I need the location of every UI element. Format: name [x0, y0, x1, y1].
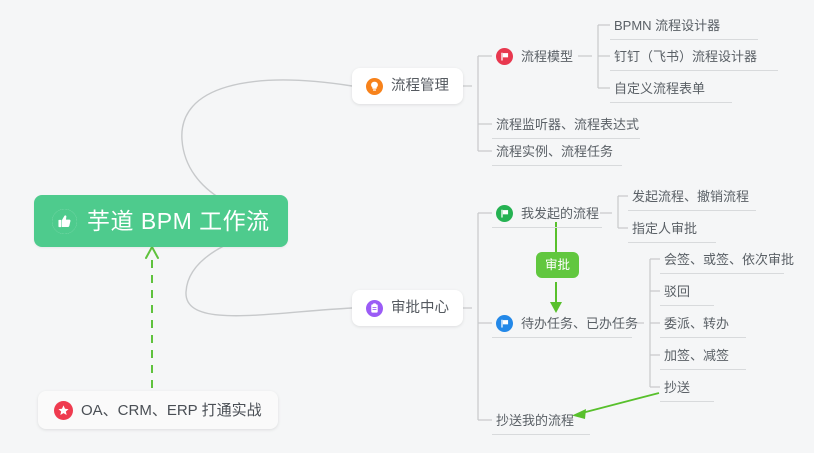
node-label: 流程监听器、流程表达式 [496, 118, 639, 131]
node-my-initiated[interactable]: 我发起的流程 [492, 199, 605, 227]
underline-add-remove-sign [660, 369, 746, 370]
node-label: 抄送我的流程 [496, 414, 574, 427]
node-start-cancel-process[interactable]: 发起流程、撤销流程 [628, 182, 755, 210]
node-label: 钉钉（飞书）流程设计器 [614, 50, 757, 63]
node-label: 加签、减签 [664, 349, 729, 362]
underline-custom-form [610, 102, 732, 103]
underline-start-cancel [628, 210, 756, 211]
underline-bpmn [610, 39, 758, 40]
underline-delegate [660, 337, 746, 338]
node-process-model[interactable]: 流程模型 [492, 42, 579, 70]
arrow-cc-line [578, 393, 659, 414]
node-reject[interactable]: 驳回 [660, 277, 696, 305]
node-label: 会签、或签、依次审批 [664, 253, 794, 266]
clipboard-icon [366, 300, 383, 317]
note-card[interactable]: OA、CRM、ERP 打通实战 [38, 391, 278, 429]
underline-cc-to-me [492, 434, 590, 435]
underline-my-initiated [492, 227, 602, 228]
underline-todo-done [492, 337, 632, 338]
node-listener-expression[interactable]: 流程监听器、流程表达式 [492, 110, 645, 138]
node-cc-to-me[interactable]: 抄送我的流程 [492, 406, 580, 434]
branch-approval-center[interactable]: 审批中心 [352, 290, 463, 326]
approval-tag-label: 审批 [545, 259, 570, 272]
node-instance-task[interactable]: 流程实例、流程任务 [492, 137, 619, 165]
node-add-remove-sign[interactable]: 加签、减签 [660, 341, 735, 369]
node-delegate-transfer[interactable]: 委派、转办 [660, 309, 735, 337]
underline-countersign [660, 273, 784, 274]
root-node[interactable]: 芋道 BPM 工作流 [34, 195, 288, 247]
node-label: 发起流程、撤销流程 [632, 190, 749, 203]
underline-instance [492, 165, 622, 166]
branch-label: 审批中心 [391, 301, 449, 316]
branch-label: 流程管理 [391, 79, 449, 94]
dashed-link-arrow-head [146, 247, 158, 258]
node-todo-done-tasks[interactable]: 待办任务、已办任务 [492, 309, 644, 337]
node-countersign[interactable]: 会签、或签、依次审批 [660, 245, 800, 273]
node-label: 自定义流程表单 [614, 82, 705, 95]
branch-process-management[interactable]: 流程管理 [352, 68, 463, 104]
flag-icon [496, 205, 513, 222]
node-cc[interactable]: 抄送 [660, 373, 696, 401]
node-assign-approver[interactable]: 指定人审批 [628, 214, 703, 242]
underline-dingtalk [610, 70, 778, 71]
node-label: 待办任务、已办任务 [521, 317, 638, 330]
node-bpmn-designer[interactable]: BPMN 流程设计器 [610, 11, 726, 39]
flag-icon [496, 315, 513, 332]
underline-cc [660, 401, 714, 402]
note-label: OA、CRM、ERP 打通实战 [81, 403, 262, 418]
node-label: 我发起的流程 [521, 207, 599, 220]
node-label: BPMN 流程设计器 [614, 19, 720, 32]
mindmap-canvas: 芋道 BPM 工作流 流程管理 流程模型 BPMN 流程设计器 钉钉（飞书）流程… [0, 0, 814, 453]
underline-reject [660, 305, 714, 306]
node-label: 流程模型 [521, 50, 573, 63]
thumbs-up-icon [52, 209, 77, 234]
node-label: 抄送 [664, 381, 690, 394]
node-dingtalk-designer[interactable]: 钉钉（飞书）流程设计器 [610, 42, 763, 70]
node-label: 委派、转办 [664, 317, 729, 330]
star-icon [54, 401, 73, 420]
node-custom-form[interactable]: 自定义流程表单 [610, 74, 711, 102]
underline-assign-approver [628, 242, 716, 243]
flag-icon [496, 48, 513, 65]
node-label: 指定人审批 [632, 222, 697, 235]
node-label: 流程实例、流程任务 [496, 145, 613, 158]
node-label: 驳回 [664, 285, 690, 298]
approval-tag[interactable]: 审批 [536, 252, 579, 278]
lightbulb-icon [366, 78, 383, 95]
root-label: 芋道 BPM 工作流 [87, 210, 270, 233]
